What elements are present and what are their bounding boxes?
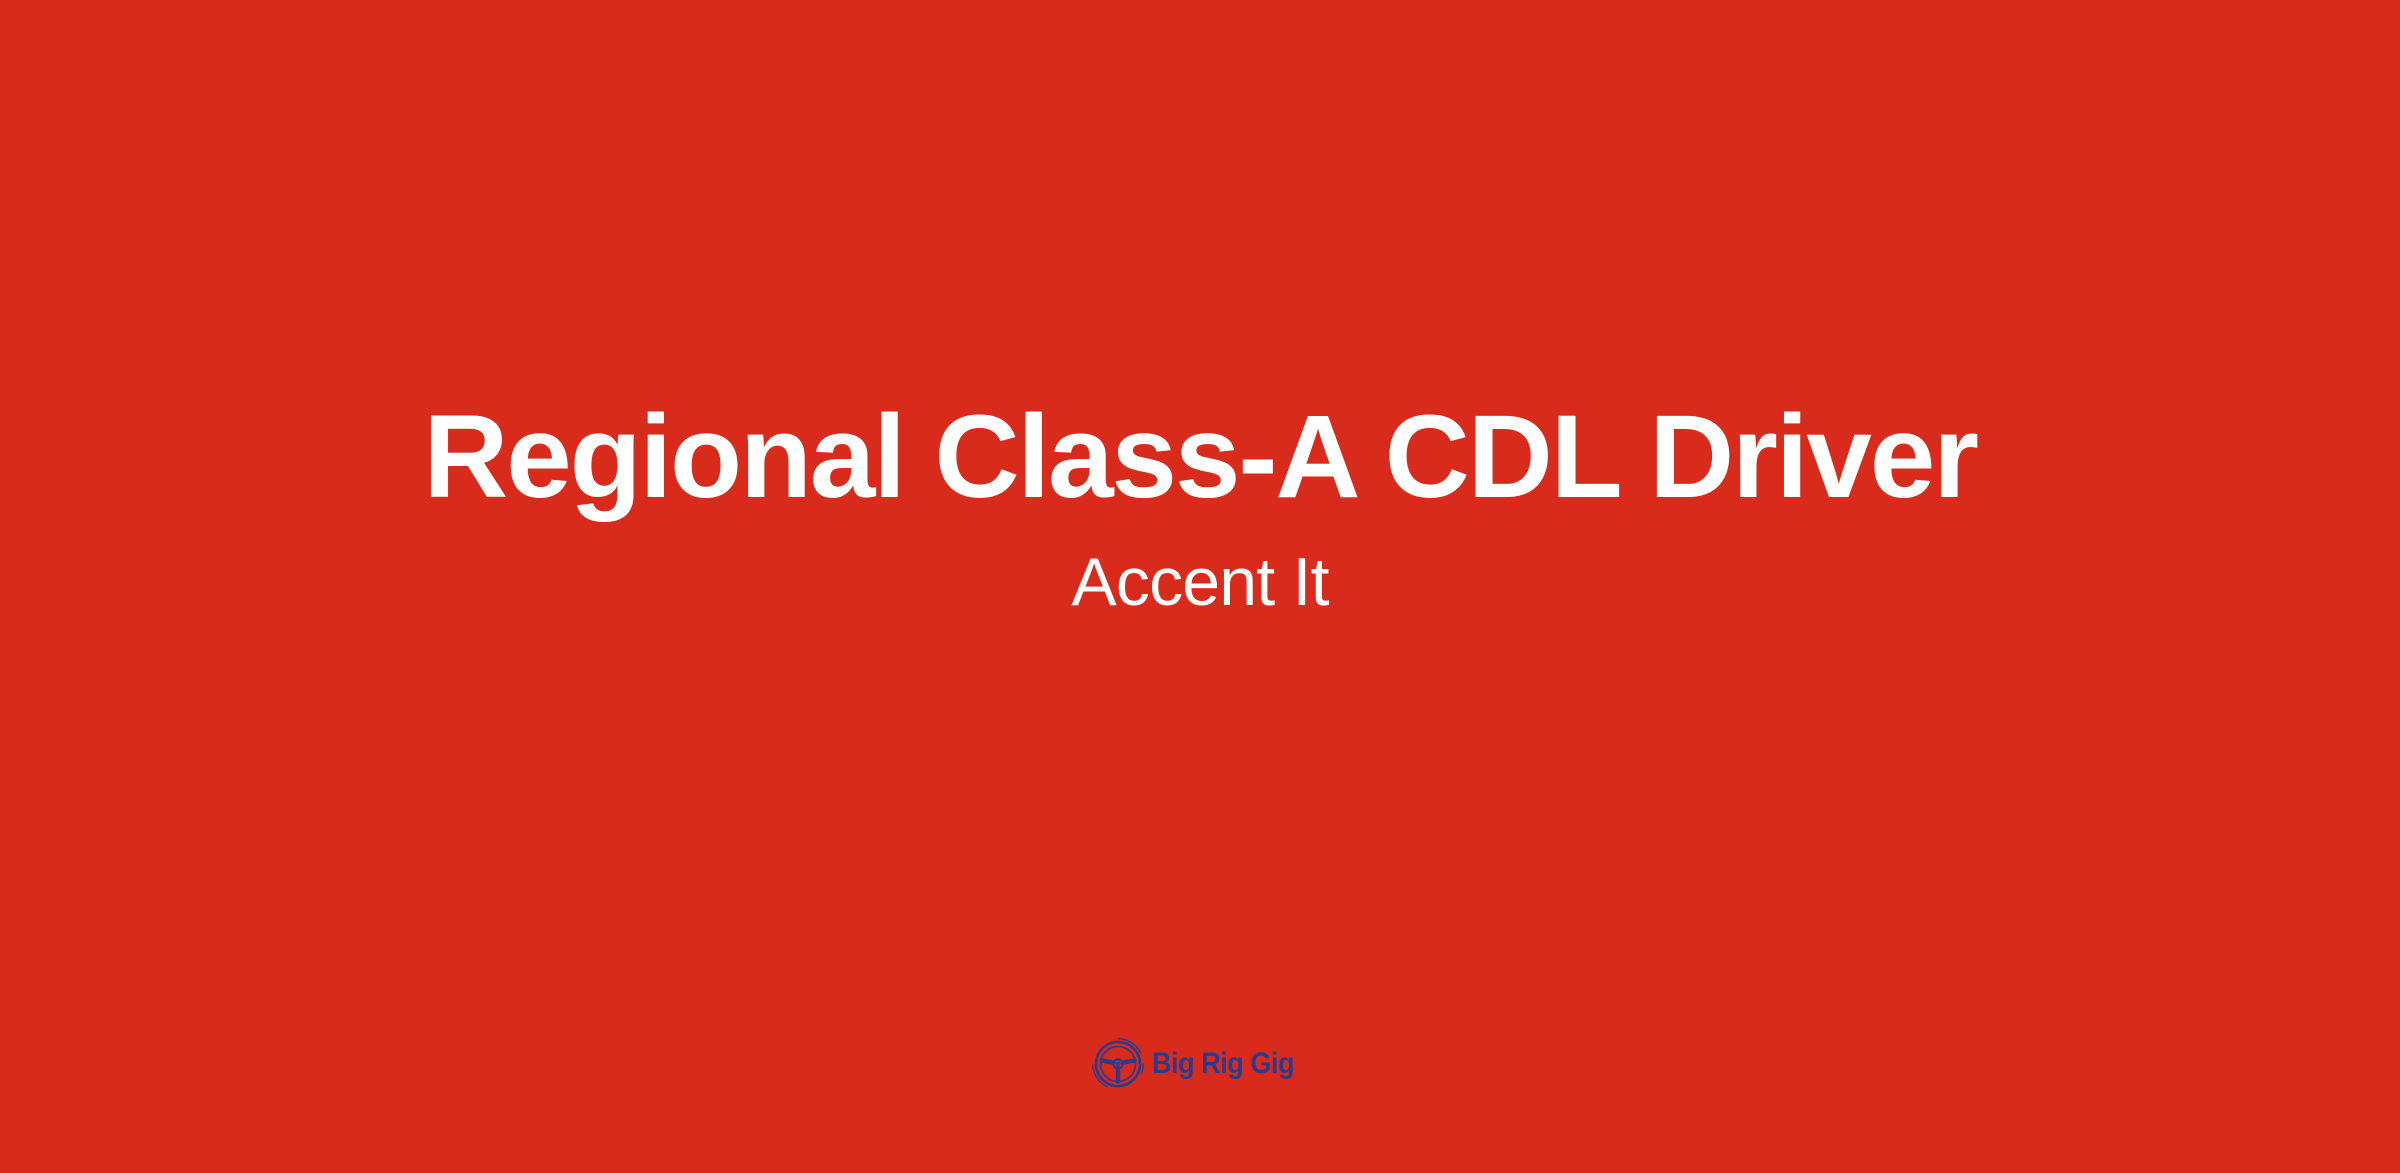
- brand-lockup[interactable]: Big Rig Gig: [0, 1036, 2400, 1092]
- headline-block: Regional Class-A CDL Driver Accent It: [0, 0, 2400, 618]
- steering-wheel-icon: [1090, 1036, 1146, 1092]
- brand-wordmark: Big Rig Gig: [1152, 1049, 1294, 1079]
- job-posting-hero: Regional Class-A CDL Driver Accent It: [0, 0, 2400, 1173]
- company-name: Accent It: [0, 546, 2400, 618]
- page-title: Regional Class-A CDL Driver: [0, 398, 2400, 516]
